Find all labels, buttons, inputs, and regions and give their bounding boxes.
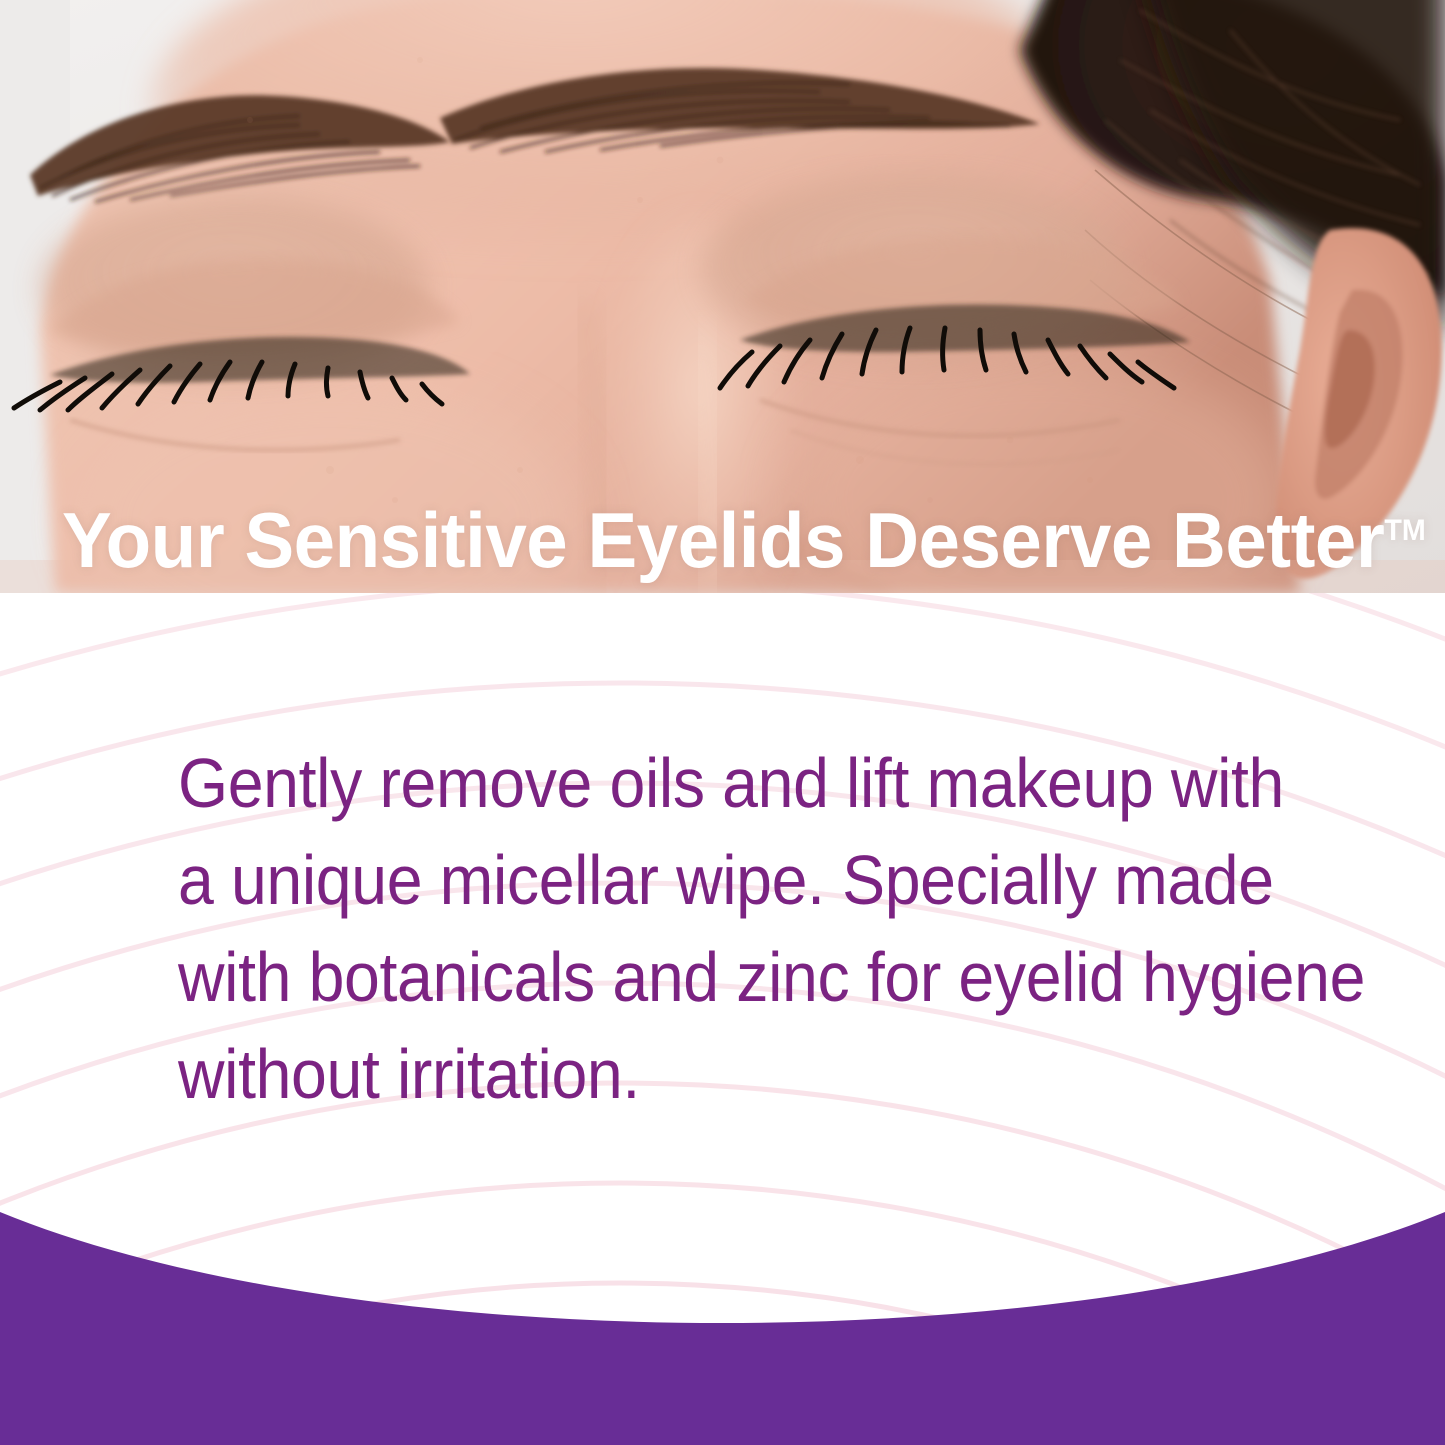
headline-text: Your Sensitive Eyelids Deserve Better bbox=[62, 496, 1384, 584]
body-line-1: Gently remove oils and lift makeup with bbox=[178, 735, 1282, 832]
footer-band bbox=[0, 1170, 1445, 1445]
body-line-2: a unique micellar wipe. Specially made bbox=[178, 832, 1282, 929]
product-ad-panel: Your Sensitive Eyelids Deserve BetterTM bbox=[0, 0, 1445, 1445]
footer-band-shape bbox=[0, 1212, 1445, 1445]
body-copy: Gently remove oils and lift makeup with … bbox=[178, 735, 1282, 1123]
page-headline: Your Sensitive Eyelids Deserve BetterTM bbox=[62, 489, 1361, 582]
trademark-symbol: TM bbox=[1384, 514, 1425, 547]
body-line-4: without irritation. bbox=[178, 1026, 1282, 1123]
body-line-3: with botanicals and zinc for eyelid hygi… bbox=[178, 929, 1282, 1026]
